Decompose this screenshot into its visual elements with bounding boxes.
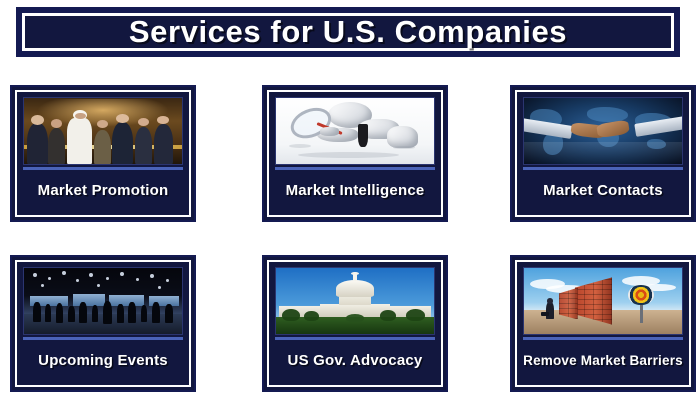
handshake-world-map-photo — [523, 97, 683, 165]
brick-wall-target-photo — [523, 267, 683, 335]
service-card-market-promotion[interactable]: Market Promotion — [10, 85, 196, 222]
trade-show-hall-photo — [23, 267, 183, 335]
services-panel: Services for U.S. Companies — [0, 0, 700, 411]
service-card-label: Market Contacts — [543, 182, 663, 199]
card-label-area: Market Intelligence — [275, 170, 435, 211]
service-card-label: US Gov. Advocacy — [288, 352, 423, 369]
service-card-inner: Upcoming Events — [15, 260, 191, 387]
card-label-area: Upcoming Events — [23, 340, 183, 381]
us-capitol-building-photo — [275, 267, 435, 335]
card-label-area: Market Promotion — [23, 170, 183, 211]
service-card-label: Market Intelligence — [286, 182, 425, 199]
page-header-inner: Services for U.S. Companies — [22, 13, 674, 51]
service-card-market-contacts[interactable]: Market Contacts — [510, 85, 696, 222]
service-card-upcoming-events[interactable]: Upcoming Events — [10, 255, 196, 392]
ribbon-cutting-ceremony-photo — [23, 97, 183, 165]
service-card-inner: Market Contacts — [515, 90, 691, 217]
service-card-inner: US Gov. Advocacy — [267, 260, 443, 387]
service-card-inner: Remove Market Barriers — [515, 260, 691, 387]
card-label-area: Market Contacts — [523, 170, 683, 211]
page-header-banner: Services for U.S. Companies — [16, 7, 680, 57]
services-grid: Market Promotion — [0, 85, 700, 405]
service-card-label: Market Promotion — [38, 182, 169, 199]
service-card-inner: Market Intelligence — [267, 90, 443, 217]
card-label-area: US Gov. Advocacy — [275, 340, 435, 381]
card-label-area: Remove Market Barriers — [523, 340, 683, 381]
magnifying-glass-figure-photo — [275, 97, 435, 165]
service-card-us-gov-advocacy[interactable]: US Gov. Advocacy — [262, 255, 448, 392]
page-title: Services for U.S. Companies — [129, 14, 567, 50]
service-card-label: Upcoming Events — [38, 352, 168, 369]
service-card-market-intelligence[interactable]: Market Intelligence — [262, 85, 448, 222]
service-card-inner: Market Promotion — [15, 90, 191, 217]
service-card-label: Remove Market Barriers — [523, 353, 683, 368]
service-card-remove-market-barriers[interactable]: Remove Market Barriers — [510, 255, 696, 392]
